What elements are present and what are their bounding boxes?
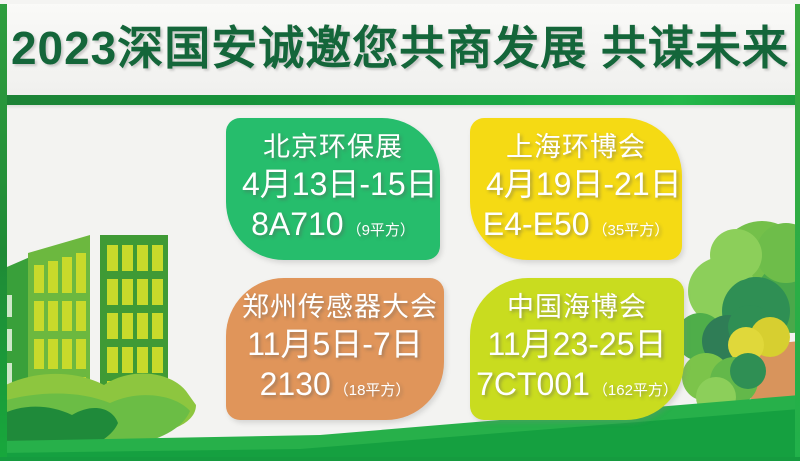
booth-area: （35平方） <box>593 221 670 241</box>
bottom-border <box>0 457 800 461</box>
event-name: 北京环保展 <box>242 130 424 164</box>
event-name: 中国海博会 <box>486 290 668 324</box>
header-divider-shadow <box>0 105 800 109</box>
page-title: 2023深国安诚邀您共商发展 共谋未来 <box>0 22 800 74</box>
booth-code: 7CT001 <box>476 364 590 404</box>
booth-area: （18平方） <box>334 381 411 401</box>
event-name: 上海环博会 <box>486 130 666 164</box>
booth-area: （162平方） <box>593 381 678 401</box>
booth-code: 8A710 <box>251 204 344 244</box>
left-border <box>0 0 7 461</box>
event-card-haibo[interactable]: 中国海博会 11月23-25日 7CT001 （162平方） <box>470 278 684 420</box>
event-booth: E4-E50 （35平方） <box>486 204 666 244</box>
banner-header: 2023深国安诚邀您共商发展 共谋未来 <box>0 0 800 95</box>
event-booth: 2130 （18平方） <box>242 364 428 404</box>
event-date: 4月13日-15日 <box>242 164 424 204</box>
header-divider <box>0 95 800 105</box>
top-border <box>0 0 800 4</box>
right-border <box>795 0 800 461</box>
event-booth: 7CT001 （162平方） <box>486 364 668 404</box>
event-date: 11月23-25日 <box>486 324 668 364</box>
event-date: 4月19日-21日 <box>486 164 666 204</box>
event-card-beijing[interactable]: 北京环保展 4月13日-15日 8A710 （9平方） <box>226 118 440 260</box>
event-card-shanghai[interactable]: 上海环博会 4月19日-21日 E4-E50 （35平方） <box>470 118 682 260</box>
event-date: 11月5日-7日 <box>242 324 428 364</box>
booth-code: 2130 <box>260 364 331 404</box>
event-name: 郑州传感器大会 <box>242 290 428 324</box>
booth-code: E4-E50 <box>483 204 590 244</box>
booth-area: （9平方） <box>347 221 415 241</box>
event-booth: 8A710 （9平方） <box>242 204 424 244</box>
promo-banner: 2023深国安诚邀您共商发展 共谋未来 北京环保展 4月13日-15日 8A71… <box>0 0 800 461</box>
event-card-zhengzhou[interactable]: 郑州传感器大会 11月5日-7日 2130 （18平方） <box>226 278 444 420</box>
